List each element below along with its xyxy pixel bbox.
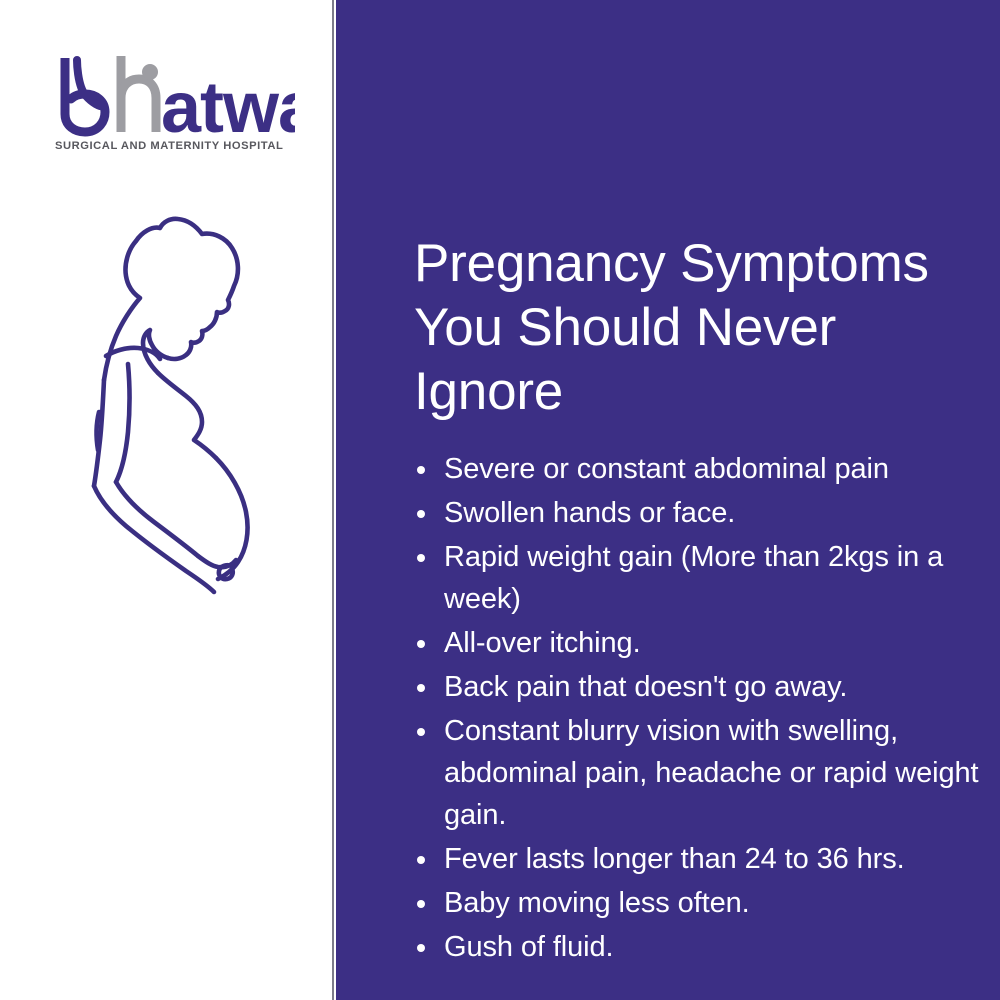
bullet-dot-icon: [417, 728, 425, 736]
brand-tagline: SURGICAL AND MATERNITY HOSPITAL: [55, 140, 305, 152]
list-item: Fever lasts longer than 24 to 36 hrs.: [414, 838, 984, 880]
list-item: Severe or constant abdominal pain: [414, 448, 984, 490]
pregnant-woman-silhouette: [62, 214, 310, 634]
list-item: Swollen hands or face.: [414, 492, 984, 534]
bullet-dot-icon: [417, 684, 425, 692]
list-item-label: Back pain that doesn't go away.: [444, 671, 847, 703]
bullet-dot-icon: [417, 554, 425, 562]
list-item: Baby moving less often.: [414, 882, 984, 924]
list-item-label: Swollen hands or face.: [444, 497, 735, 529]
list-item: Back pain that doesn't go away.: [414, 666, 984, 708]
list-item: Constant blurry vision with swelling, ab…: [414, 710, 984, 836]
bullet-dot-icon: [417, 944, 425, 952]
pregnant-woman-illustration-svg: [62, 214, 310, 634]
list-item-label: Severe or constant abdominal pain: [444, 453, 889, 485]
list-item: Gush of fluid.: [414, 926, 984, 968]
list-item-label: Rapid weight gain (More than 2kgs in a w…: [444, 541, 943, 615]
logo-letters-atwal: atwal: [161, 68, 295, 138]
symptom-list: Severe or constant abdominal pain Swolle…: [414, 448, 984, 970]
brand-logo: atwal SURGICAL AND MATERNITY HOSPITAL: [55, 52, 305, 152]
stomach-organ-icon: [65, 58, 105, 132]
list-item-label: All-over itching.: [444, 627, 641, 659]
bullet-dot-icon: [417, 900, 425, 908]
bullet-dot-icon: [417, 856, 425, 864]
list-item-label: Constant blurry vision with swelling, ab…: [444, 715, 978, 831]
poster: atwal SURGICAL AND MATERNITY HOSPITAL: [0, 0, 1000, 1000]
list-item: All-over itching.: [414, 622, 984, 664]
logo-wordmark: atwal: [55, 52, 295, 138]
bullet-dot-icon: [417, 640, 425, 648]
logo-letter-h: [121, 56, 158, 132]
right-panel: Pregnancy Symptoms You Should Never Igno…: [336, 0, 1000, 1000]
list-item-label: Baby moving less often.: [444, 887, 750, 919]
bullet-dot-icon: [417, 510, 425, 518]
left-panel: atwal SURGICAL AND MATERNITY HOSPITAL: [0, 0, 334, 1000]
list-item-label: Fever lasts longer than 24 to 36 hrs.: [444, 843, 905, 875]
bullet-dot-icon: [417, 466, 425, 474]
list-item: Rapid weight gain (More than 2kgs in a w…: [414, 536, 984, 620]
logo-svg: atwal: [55, 52, 295, 138]
list-item-label: Gush of fluid.: [444, 931, 613, 963]
page-title: Pregnancy Symptoms You Should Never Igno…: [414, 232, 954, 424]
